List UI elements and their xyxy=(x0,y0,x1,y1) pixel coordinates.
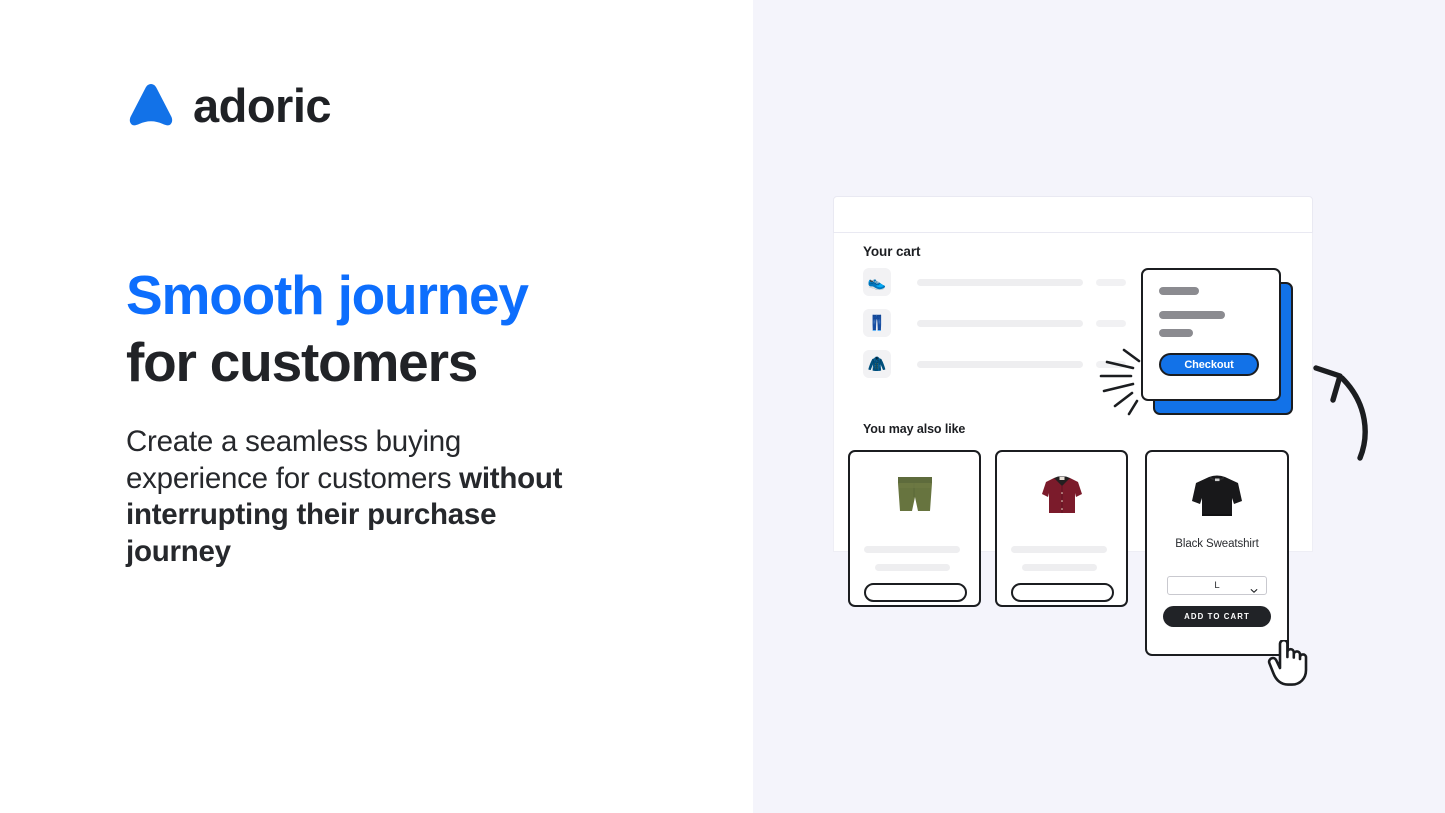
popup-text-bar xyxy=(1159,287,1199,295)
left-content-pane: adoric Smooth journey for customers Crea… xyxy=(0,0,753,813)
skeleton-title-bar xyxy=(917,320,1083,327)
add-to-cart-placeholder-button[interactable] xyxy=(1011,583,1114,602)
brand-name: adoric xyxy=(193,82,331,129)
size-select-value: L xyxy=(1214,580,1219,591)
add-to-cart-button[interactable]: ADD TO CART xyxy=(1163,606,1271,627)
checkout-popup: Checkout xyxy=(1141,268,1281,401)
checkout-label: Checkout xyxy=(1184,359,1233,371)
checkout-button[interactable]: Checkout xyxy=(1159,353,1259,376)
skeleton-title-bar xyxy=(917,279,1083,286)
skeleton-price-bar xyxy=(1096,279,1126,286)
recommendations-heading: You may also like xyxy=(863,422,965,436)
coat-emoji-icon: 🧥 xyxy=(863,350,891,378)
subcopy-regular: Create a seamless buying experience for … xyxy=(126,425,461,495)
product-card-sweatshirt[interactable]: Black Sweatshirt L ADD TO CART xyxy=(1145,450,1289,656)
curved-arrow-icon xyxy=(1306,352,1374,462)
skeleton-product-name xyxy=(1011,546,1107,553)
store-mockup: Your cart 👟 👖 🧥 Yo xyxy=(833,196,1313,552)
jeans-emoji-icon: 👖 xyxy=(863,309,891,337)
headline-line-1: Smooth journey xyxy=(126,262,646,329)
chevron-down-icon xyxy=(1250,582,1258,590)
maroon-shirt-image-icon xyxy=(997,466,1126,526)
adoric-triangle-logo-icon xyxy=(126,80,176,130)
product-card-shorts[interactable] xyxy=(848,450,981,607)
sneaker-emoji-icon: 👟 xyxy=(863,268,891,296)
product-name: Black Sweatshirt xyxy=(1147,538,1287,550)
skeleton-price-bar xyxy=(1096,320,1126,327)
browser-chrome-bar xyxy=(833,196,1313,233)
size-select[interactable]: L xyxy=(1167,576,1267,595)
sparkle-burst-icon xyxy=(1091,344,1151,416)
page-title: Smooth journey for customers xyxy=(126,262,646,395)
page-subcopy: Create a seamless buying experience for … xyxy=(126,424,606,571)
add-to-cart-placeholder-button[interactable] xyxy=(864,583,967,602)
olive-shorts-image-icon xyxy=(850,466,979,526)
black-sweatshirt-image-icon xyxy=(1147,466,1287,526)
add-to-cart-label: ADD TO CART xyxy=(1184,612,1250,621)
skeleton-product-price xyxy=(875,564,950,571)
cart-heading: Your cart xyxy=(863,244,920,259)
headline-line-2: for customers xyxy=(126,329,646,396)
skeleton-product-name xyxy=(864,546,960,553)
popup-text-bar xyxy=(1159,311,1225,319)
skeleton-title-bar xyxy=(917,361,1083,368)
page-root: adoric Smooth journey for customers Crea… xyxy=(0,0,1445,813)
pointing-hand-cursor-icon xyxy=(1266,640,1310,686)
product-card-shirt[interactable] xyxy=(995,450,1128,607)
popup-text-bar xyxy=(1159,329,1193,337)
brand-logo[interactable]: adoric xyxy=(126,80,331,130)
skeleton-product-price xyxy=(1022,564,1097,571)
